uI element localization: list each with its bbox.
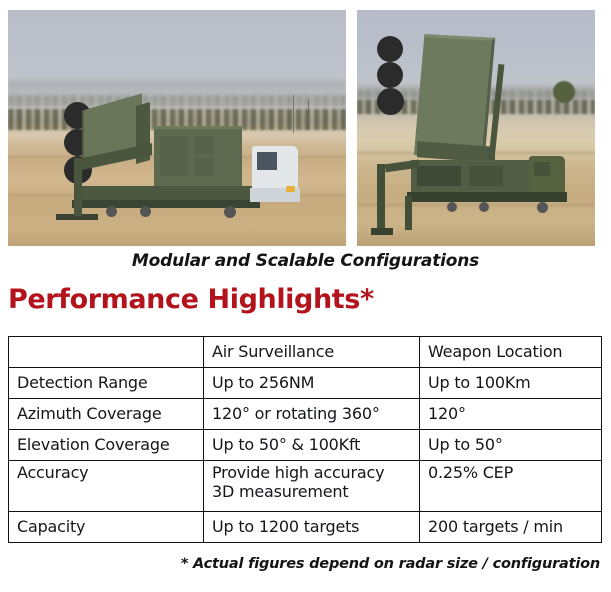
row-label: Elevation Coverage	[9, 430, 204, 461]
row-value-air: 120° or rotating 360°	[204, 399, 420, 430]
radar-vehicle	[64, 102, 304, 224]
wheel-rim	[106, 206, 117, 217]
cab-window	[257, 152, 277, 170]
wheel-rim	[447, 202, 457, 212]
table-row: Accuracy Provide high accuracy 3D measur…	[9, 461, 602, 512]
table-header-air-surveillance: Air Surveillance	[204, 337, 420, 368]
antenna-array-face	[414, 34, 495, 159]
wheel-rim	[479, 202, 489, 212]
cab-window	[534, 162, 550, 176]
outrigger-leg	[405, 196, 412, 230]
table-header-row: Air Surveillance Weapon Location	[9, 337, 602, 368]
radar-vehicle-deployed	[377, 36, 587, 236]
row-label: Azimuth Coverage	[9, 399, 204, 430]
radar-truck-deployed-configuration-photo	[357, 10, 595, 246]
wheel-rim	[140, 206, 151, 217]
wheel	[377, 88, 404, 115]
body-panel	[469, 166, 503, 186]
wheel-rim	[224, 206, 236, 218]
table-row: Azimuth Coverage 120° or rotating 360° 1…	[9, 399, 602, 430]
row-value-weapon: Up to 50°	[420, 430, 602, 461]
table-header-blank	[9, 337, 204, 368]
headlight	[286, 186, 295, 192]
row-value-weapon: 200 targets / min	[420, 512, 602, 543]
row-value-air: Up to 50° & 100Kft	[204, 430, 420, 461]
wheel	[377, 36, 403, 62]
row-value-air: Up to 256NM	[204, 368, 420, 399]
row-value-air: Up to 1200 targets	[204, 512, 420, 543]
chassis-frame	[407, 192, 567, 202]
table-header-weapon-location: Weapon Location	[420, 337, 602, 368]
wheel	[377, 62, 403, 88]
row-label: Accuracy	[9, 461, 204, 512]
row-value-weapon: 0.25% CEP	[420, 461, 602, 512]
row-value-air: Provide high accuracy 3D measurement	[204, 461, 420, 512]
row-label: Detection Range	[9, 368, 204, 399]
performance-highlights-table: Air Surveillance Weapon Location Detecti…	[8, 336, 602, 543]
wheel-rim	[537, 202, 548, 213]
table-footnote: * Actual figures depend on radar size / …	[181, 556, 600, 572]
radar-truck-travel-configuration-photo	[8, 10, 346, 246]
photo-strip	[8, 10, 595, 246]
outrigger-pad	[371, 228, 393, 235]
outrigger-leg	[377, 164, 385, 232]
table-row: Elevation Coverage Up to 50° & 100Kft Up…	[9, 430, 602, 461]
shelter-hatch	[194, 158, 214, 176]
row-value-weapon: Up to 100Km	[420, 368, 602, 399]
table-row: Detection Range Up to 256NM Up to 100Km	[9, 368, 602, 399]
shelter-panel	[160, 136, 188, 176]
photo-caption: Modular and Scalable Configurations	[0, 251, 611, 271]
utility-pole	[308, 100, 309, 131]
body-panel	[417, 166, 461, 186]
outrigger-leg	[74, 158, 82, 216]
shelter-hatch	[194, 136, 214, 154]
page-title: Performance Highlights*	[8, 284, 374, 315]
row-label: Capacity	[9, 512, 204, 543]
row-value-weapon: 120°	[420, 399, 602, 430]
table-row: Capacity Up to 1200 targets 200 targets …	[9, 512, 602, 543]
